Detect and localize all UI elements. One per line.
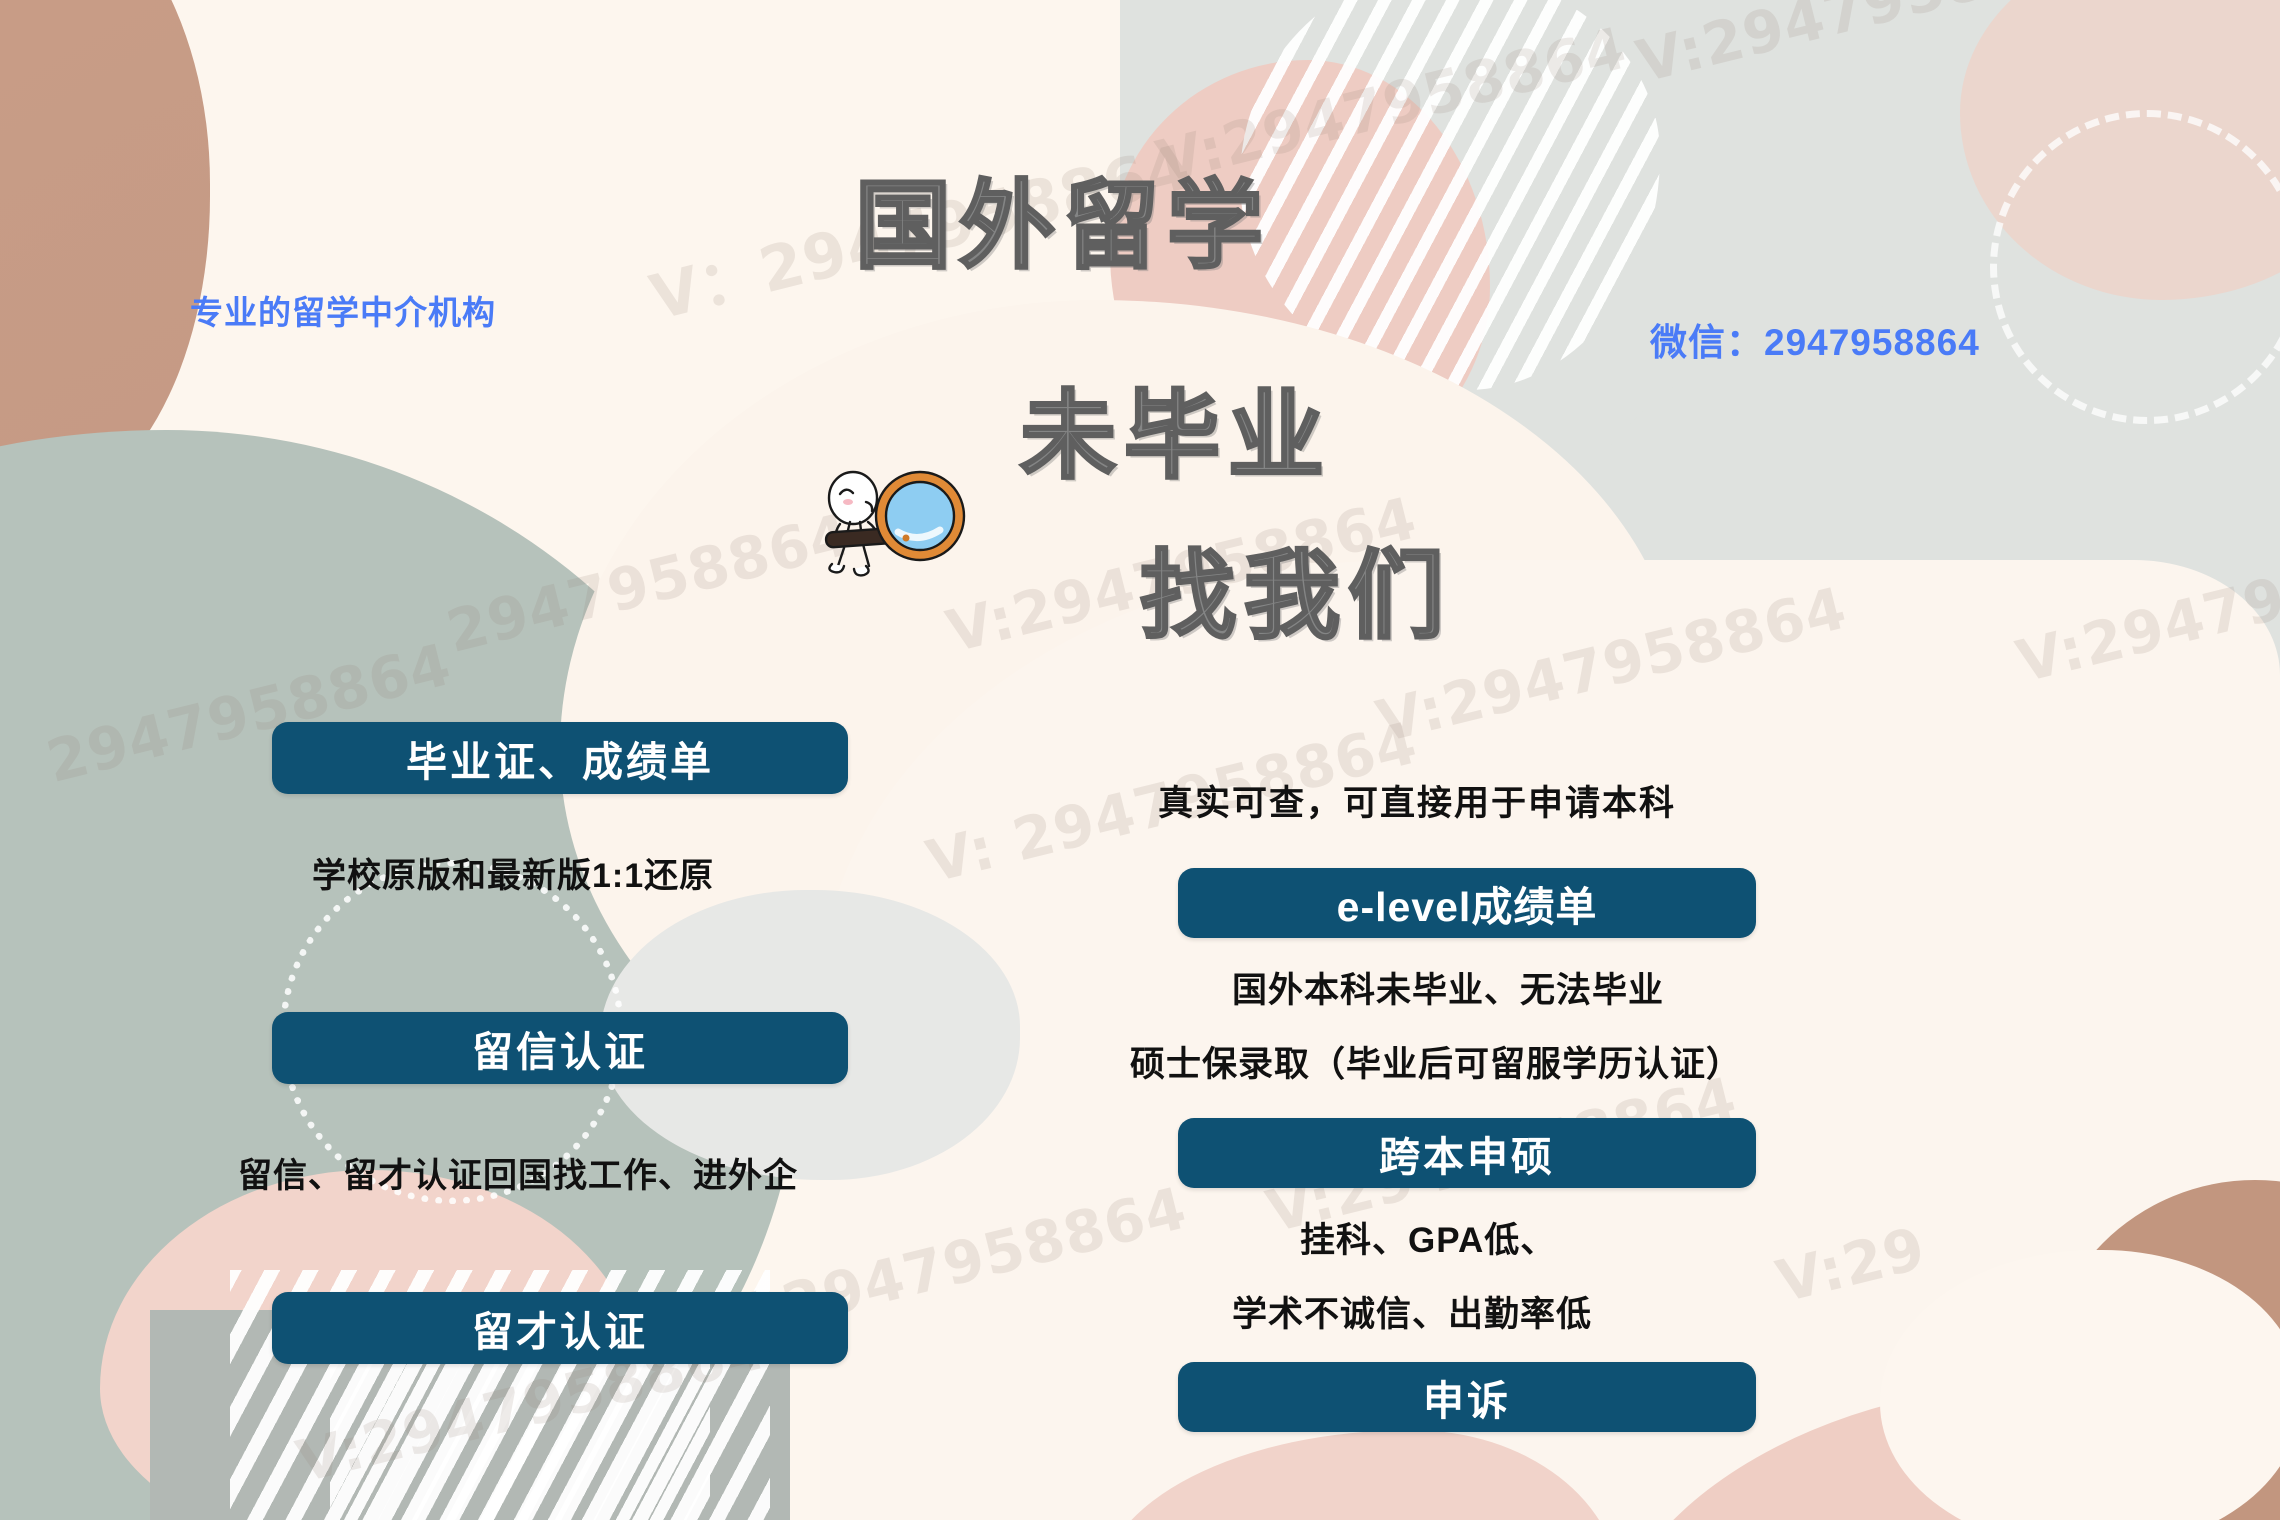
poster-canvas: V:2947958864V：2947958864V:2947958864V:29… <box>0 0 2280 1520</box>
badge-elevel-transcript[interactable]: e-level成绩单 <box>1178 868 1756 938</box>
headline-line-1: 国外留学 <box>855 148 1271 287</box>
poster-content: 专业的留学中介机构 微信：2947958864 国外留学 未毕业 找我们 <box>0 0 2280 1520</box>
badge-liucai-certification[interactable]: 留才认证 <box>272 1292 848 1364</box>
sub-diploma-transcript: 学校原版和最新版1:1还原 <box>312 848 714 897</box>
headline-line-3: 找我们 <box>1140 518 1452 657</box>
sub-cross-degree-line-1: 挂科、GPA低、 <box>1300 1212 1556 1263</box>
badge-liuxin-certification[interactable]: 留信认证 <box>272 1012 848 1084</box>
headline-line-2: 未毕业 <box>1020 358 1332 497</box>
sub-cross-degree-line-2: 学术不诚信、出勤率低 <box>1232 1286 1592 1337</box>
sub-liuxin-certification: 留信、留才认证回国找工作、进外企 <box>238 1148 798 1197</box>
badge-appeal[interactable]: 申诉 <box>1178 1362 1756 1432</box>
right-column-intro: 真实可查，可直接用于申请本科 <box>1158 775 1676 826</box>
badge-diploma-transcript[interactable]: 毕业证、成绩单 <box>272 722 848 794</box>
badge-cross-degree-master[interactable]: 跨本申硕 <box>1178 1118 1756 1188</box>
magnifier-mascot-icon <box>810 460 970 600</box>
sub-elevel-line-1: 国外本科未毕业、无法毕业 <box>1232 962 1664 1013</box>
headline-block: 国外留学 未毕业 找我们 <box>0 0 2280 640</box>
sub-elevel-line-2: 硕士保录取（毕业后可留服学历认证） <box>1130 1036 1742 1087</box>
